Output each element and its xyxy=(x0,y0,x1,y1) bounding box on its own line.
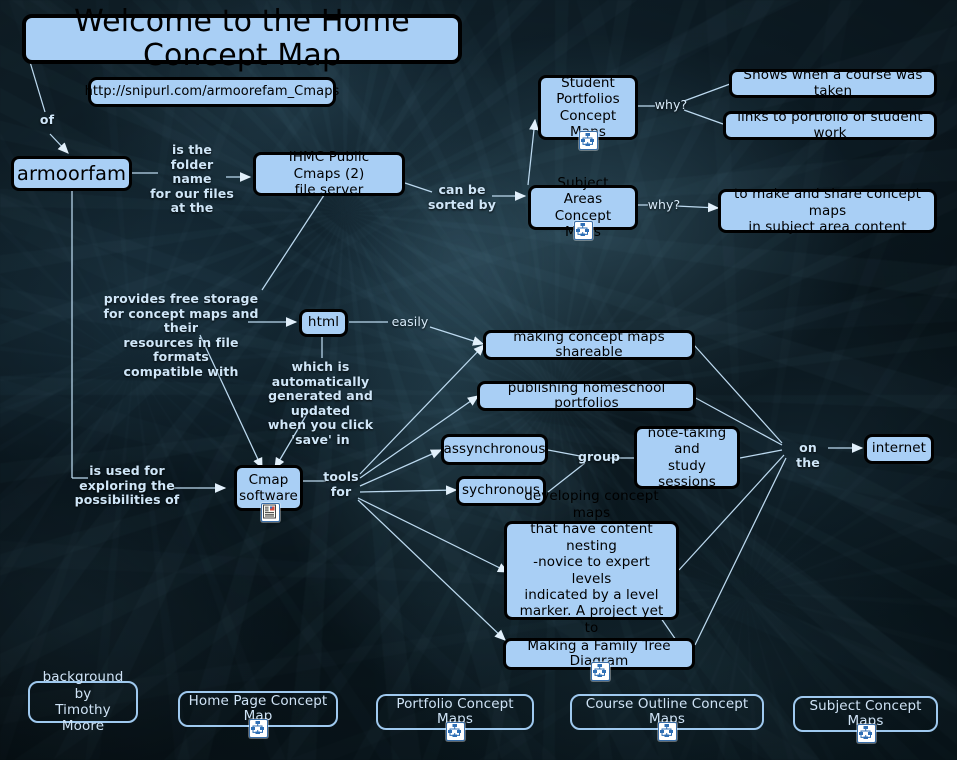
node-note-taking-and-study-sessions[interactable]: note-taking and study sessions xyxy=(634,426,740,489)
node-assynchronous[interactable]: assynchronous xyxy=(441,434,548,465)
node-label: armoorfam xyxy=(17,163,126,185)
node-label: making concept maps shareable xyxy=(494,330,684,360)
concept-map-icon[interactable] xyxy=(591,662,610,681)
node-making-concept-maps-shareable[interactable]: making concept maps shareable xyxy=(483,330,695,360)
node-url-snipurl[interactable]: http://snipurl.com/armoorefam_Cmaps xyxy=(88,77,336,107)
concept-map-icon[interactable] xyxy=(857,724,876,743)
node-label: Shows when a course was taken xyxy=(740,68,926,98)
concept-map-icon[interactable] xyxy=(446,722,465,741)
link-label-which-is-automatically: which is automatically generated and upd… xyxy=(248,360,393,447)
node-label: internet xyxy=(872,441,926,456)
node-label: publishing homeschool portfolios xyxy=(488,381,685,411)
link-label-is-the-folder-name: is the folder name for our files at the xyxy=(150,143,234,216)
node-label: to make and share concept maps in subjec… xyxy=(729,186,926,235)
node-label: Welcome to the Home Concept Map xyxy=(42,5,442,72)
node-to-make-and-share[interactable]: to make and share concept maps in subjec… xyxy=(718,189,937,233)
node-label: assynchronous xyxy=(443,442,545,457)
node-publishing-homeschool-portfolios[interactable]: publishing homeschool portfolios xyxy=(477,381,696,411)
concept-map-icon[interactable] xyxy=(658,722,677,741)
link-label-group: group xyxy=(578,450,614,465)
concept-map-canvas[interactable]: of is the folder name for our files at t… xyxy=(0,0,957,760)
node-label: note-taking and study sessions xyxy=(645,425,729,491)
node-label: html xyxy=(308,315,339,330)
node-label: Cmap software xyxy=(239,472,298,505)
node-title-welcome[interactable]: Welcome to the Home Concept Map xyxy=(22,14,462,64)
node-developing-concept-maps-nesting[interactable]: developing concept maps that have conten… xyxy=(504,521,679,620)
node-label: IHMC Public Cmaps (2) file server xyxy=(264,149,394,198)
concept-map-icon[interactable] xyxy=(579,131,598,150)
node-armoorfam[interactable]: armoorfam xyxy=(11,156,132,191)
link-label-why-2: why? xyxy=(646,198,682,213)
concept-map-icon[interactable] xyxy=(249,719,268,738)
link-label-is-used-for: is used for exploring the possibilities … xyxy=(72,464,182,508)
node-label: http://snipurl.com/armoorefam_Cmaps xyxy=(85,85,340,100)
link-label-tools-for: tools for xyxy=(322,470,360,499)
node-label: developing concept maps that have conten… xyxy=(515,488,668,653)
node-ihmc-public-cmaps-file-server[interactable]: IHMC Public Cmaps (2) file server xyxy=(253,152,405,196)
node-links-to-portfolio[interactable]: links to portfolio of student work xyxy=(723,111,937,140)
concept-map-icon[interactable] xyxy=(574,221,593,240)
link-label-can-be-sorted-by: can be sorted by xyxy=(424,183,500,212)
node-background-credit[interactable]: background by Timothy Moore xyxy=(28,681,138,723)
link-label-why-1: why? xyxy=(653,98,689,113)
node-html[interactable]: html xyxy=(299,309,348,337)
link-label-provides-free-storage: provides free storage for concept maps a… xyxy=(100,292,262,379)
document-resource-icon[interactable] xyxy=(261,503,280,522)
node-label: background by Timothy Moore xyxy=(38,669,128,735)
link-label-easily: easily xyxy=(388,315,432,330)
node-internet[interactable]: internet xyxy=(864,434,934,464)
link-label-of: of xyxy=(32,113,62,128)
node-shows-when-course-taken[interactable]: Shows when a course was taken xyxy=(729,69,937,98)
node-label: links to portfolio of student work xyxy=(734,110,926,140)
link-label-on-the: on the xyxy=(786,441,830,470)
